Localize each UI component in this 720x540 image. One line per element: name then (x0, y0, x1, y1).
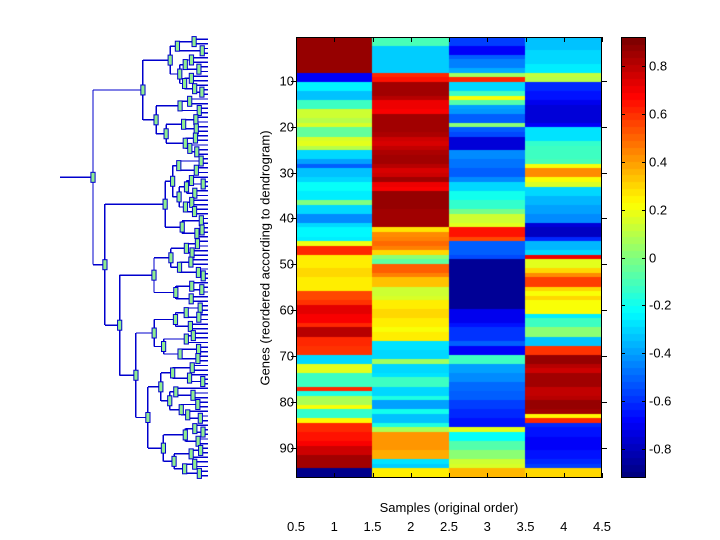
dendrogram-node-marker (187, 373, 191, 383)
x-tick-label: 0.5 (287, 519, 305, 534)
x-tick-mark (449, 473, 450, 478)
x-tick-mark (296, 473, 297, 478)
dendrogram-node-marker (197, 312, 201, 322)
dendrogram-node-marker (152, 270, 156, 280)
gene-dendrogram (60, 30, 230, 480)
x-tick-mark (334, 473, 335, 478)
y-tick-label: 50 (280, 257, 294, 272)
y-tick-mark-right (602, 264, 607, 265)
dendrogram-node-marker (177, 192, 181, 202)
dendrogram-node-marker (194, 115, 198, 125)
dendrogram-node-marker (199, 445, 203, 455)
dendrogram-node-marker (201, 377, 205, 387)
y-tick-mark-right (602, 310, 607, 311)
x-tick-mark (526, 473, 527, 478)
dendrogram-node-marker (191, 390, 195, 400)
dendrogram-node-marker (182, 79, 186, 89)
dendrogram-node-marker (118, 320, 122, 330)
dendrogram-svg (60, 30, 230, 480)
dendrogram-node-marker (103, 260, 107, 270)
colorbar-tick-label: 0.4 (649, 154, 667, 169)
dendrogram-node-marker (183, 138, 187, 148)
figure-canvas: Genes (reordered according to dendrogram… (0, 0, 720, 540)
colorbar-tick-mark-right (642, 210, 646, 211)
dendrogram-node-marker (200, 225, 204, 235)
dendrogram-node-marker (191, 331, 195, 341)
dendrogram-node-marker (197, 106, 201, 116)
dendrogram-node-marker (164, 129, 168, 139)
y-tick-label: 20 (280, 119, 294, 134)
x-axis-title: Samples (original order) (296, 500, 602, 515)
dendrogram-node-marker (194, 165, 198, 175)
dendrogram-node-marker (134, 370, 138, 380)
colorbar-tick-label: 0.2 (649, 202, 667, 217)
dendrogram-node-marker (200, 285, 204, 295)
y-tick-mark-right (602, 218, 607, 219)
dendrogram-node-marker (146, 412, 150, 422)
colorbar-tick-label: -0.6 (649, 394, 671, 409)
dendrogram-node-marker (195, 147, 199, 157)
x-tick-label: 1 (331, 519, 338, 534)
dendrogram-node-marker (190, 281, 194, 291)
colorbar-tick-label: -0.2 (649, 298, 671, 313)
dendrogram-node-marker (190, 248, 194, 258)
y-tick-mark-right (602, 356, 607, 357)
colorbar: 0.80.60.40.20-0.2-0.4-0.6-0.8 (621, 37, 646, 478)
dendrogram-node-marker (152, 328, 156, 338)
dendrogram-node-marker (189, 449, 193, 459)
dendrogram-node-marker (193, 188, 197, 198)
dendrogram-node-marker (183, 464, 187, 474)
y-tick-mark-right (602, 448, 607, 449)
y-tick-label: 10 (280, 73, 294, 88)
x-tick-label: 4.5 (593, 519, 611, 534)
y-tick-mark-right (602, 402, 607, 403)
colorbar-tick-mark-right (642, 305, 646, 306)
dendrogram-node-marker (179, 405, 183, 415)
dendrogram-node-marker (189, 55, 193, 65)
colorbar-tick-mark-right (642, 258, 646, 259)
dendrogram-node-marker (193, 424, 197, 434)
y-tick-mark-right (602, 173, 607, 174)
dendrogram-node-marker (201, 179, 205, 189)
colorbar-tick-label: -0.8 (649, 442, 671, 457)
y-tick-label: 80 (280, 395, 294, 410)
dendrogram-node-marker (195, 228, 199, 238)
colorbar-tick-mark (621, 353, 625, 354)
dendrogram-node-marker (141, 85, 145, 95)
heatmap-plot-area: 102030405060708090 0.511.522.533.544.5 (296, 37, 602, 478)
colorbar-tick-mark-right (642, 401, 646, 402)
y-tick-label: 90 (280, 441, 294, 456)
dendrogram-node-marker (190, 363, 194, 373)
dendrogram-node-marker (196, 354, 200, 364)
dendrogram-leaf-markers (91, 37, 205, 479)
y-axis-title: Genes (reordered according to dendrogram… (256, 37, 274, 478)
x-tick-label: 3.5 (516, 519, 534, 534)
dendrogram-node-marker (188, 321, 192, 331)
colorbar-tick-mark (621, 449, 625, 450)
dendrogram-node-marker (184, 334, 188, 344)
dendrogram-node-marker (174, 387, 178, 397)
x-tick-mark-top (526, 37, 527, 42)
x-tick-mark (373, 473, 374, 478)
dendrogram-node-marker (168, 396, 172, 406)
colorbar-tick-label: -0.4 (649, 346, 671, 361)
dendrogram-node-marker (192, 207, 196, 217)
dendrogram-node-marker (171, 176, 175, 186)
dendrogram-node-marker (182, 119, 186, 129)
x-tick-label: 3 (484, 519, 491, 534)
colorbar-tick-mark (621, 305, 625, 306)
x-tick-label: 1.5 (363, 519, 381, 534)
x-tick-label: 2 (407, 519, 414, 534)
y-tick-label: 70 (280, 349, 294, 364)
dendrogram-node-marker (180, 222, 184, 232)
colorbar-tick-label: 0.8 (649, 58, 667, 73)
colorbar-tick-mark-right (642, 449, 646, 450)
colorbar-tick-mark (621, 66, 625, 67)
dendrogram-node-marker (197, 64, 201, 74)
colorbar-tick-mark-right (642, 162, 646, 163)
dendrogram-node-marker (194, 124, 198, 134)
dendrogram-node-marker (189, 73, 193, 83)
dendrogram-node-marker (172, 456, 176, 466)
dendrogram-node-marker (196, 436, 200, 446)
dendrogram-node-marker (198, 303, 202, 313)
dendrogram-node-marker (193, 459, 197, 469)
x-tick-mark-top (296, 37, 297, 42)
dendrogram-node-marker (178, 349, 182, 359)
x-axis-title-text: Samples (original order) (380, 500, 519, 515)
colorbar-tick-mark-right (642, 114, 646, 115)
colorbar-tick-label: 0 (649, 250, 656, 265)
y-tick-label: 60 (280, 303, 294, 318)
dendrogram-node-marker (177, 161, 181, 171)
dendrogram-node-marker (91, 172, 95, 182)
dendrogram-node-marker (196, 344, 200, 354)
dendrogram-node-marker (201, 271, 205, 281)
dendrogram-node-marker (195, 239, 199, 249)
x-tick-label: 4 (560, 519, 567, 534)
colorbar-tick-mark (621, 162, 625, 163)
dendrogram-node-marker (159, 382, 163, 392)
x-tick-mark (564, 473, 565, 478)
dendrogram-node-marker (183, 430, 187, 440)
dendrogram-node-marker (188, 96, 192, 106)
colorbar-tick-label: 0.6 (649, 106, 667, 121)
dendrogram-node-marker (199, 216, 203, 226)
y-tick-mark-right (602, 81, 607, 82)
dendrogram-node-marker (178, 101, 182, 111)
x-tick-mark (487, 473, 488, 478)
dendrogram-node-marker (169, 253, 173, 263)
dendrogram-node-marker (177, 262, 181, 272)
dendrogram-node-marker (189, 176, 193, 186)
dendrogram-node-marker (188, 143, 192, 153)
dendrogram-node-marker (168, 55, 172, 65)
dendrogram-node-marker (196, 267, 200, 277)
x-tick-mark-top (487, 37, 488, 42)
x-tick-mark (411, 473, 412, 478)
dendrogram-node-marker (196, 400, 200, 410)
dendrogram-node-marker (200, 87, 204, 97)
dendrogram-node-marker (154, 115, 158, 125)
dendrogram-node-marker (198, 413, 202, 423)
y-tick-label: 40 (280, 211, 294, 226)
x-tick-mark (602, 473, 603, 478)
x-tick-mark-top (449, 37, 450, 42)
y-tick-label: 30 (280, 165, 294, 180)
dendrogram-node-marker (190, 197, 194, 207)
dendrogram-node-marker (197, 468, 201, 478)
dendrogram-node-marker (201, 427, 205, 437)
x-tick-mark-top (564, 37, 565, 42)
colorbar-tick-mark (621, 258, 625, 259)
dendrogram-node-marker (184, 308, 188, 318)
dendrogram-node-marker (200, 46, 204, 56)
dendrogram-node-marker (171, 368, 175, 378)
dendrogram-node-marker (175, 41, 179, 51)
dendrogram-node-marker (192, 37, 196, 47)
dendrogram-node-marker (186, 410, 190, 420)
x-tick-mark-top (334, 37, 335, 42)
y-axis-title-text: Genes (reordered according to dendrogram… (258, 130, 273, 385)
x-tick-label: 2.5 (440, 519, 458, 534)
dendrogram-node-marker (189, 257, 193, 267)
dendrogram-node-marker (193, 133, 197, 143)
dendrogram-node-marker (199, 156, 203, 166)
dendrogram-node-marker (193, 84, 197, 94)
colorbar-tick-mark (621, 210, 625, 211)
dendrogram-node-marker (173, 315, 177, 325)
heatmap-image (296, 37, 602, 478)
colorbar-tick-mark (621, 114, 625, 115)
dendrogram-node-marker (183, 60, 187, 70)
y-tick-mark-right (602, 127, 607, 128)
dendrogram-node-marker (184, 243, 188, 253)
dendrogram-node-marker (163, 199, 167, 209)
x-tick-mark-top (602, 37, 603, 42)
dendrogram-node-marker (178, 69, 182, 79)
dendrogram-node-marker (189, 294, 193, 304)
colorbar-tick-mark (621, 401, 625, 402)
x-tick-mark-top (373, 37, 374, 42)
dendrogram-node-marker (161, 342, 165, 352)
dendrogram-node-marker (174, 288, 178, 298)
x-tick-mark-top (411, 37, 412, 42)
colorbar-tick-mark-right (642, 66, 646, 67)
dendrogram-node-marker (183, 202, 187, 212)
dendrogram-node-marker (161, 443, 165, 453)
dendrogram-node-marker (184, 182, 188, 192)
colorbar-tick-mark-right (642, 353, 646, 354)
